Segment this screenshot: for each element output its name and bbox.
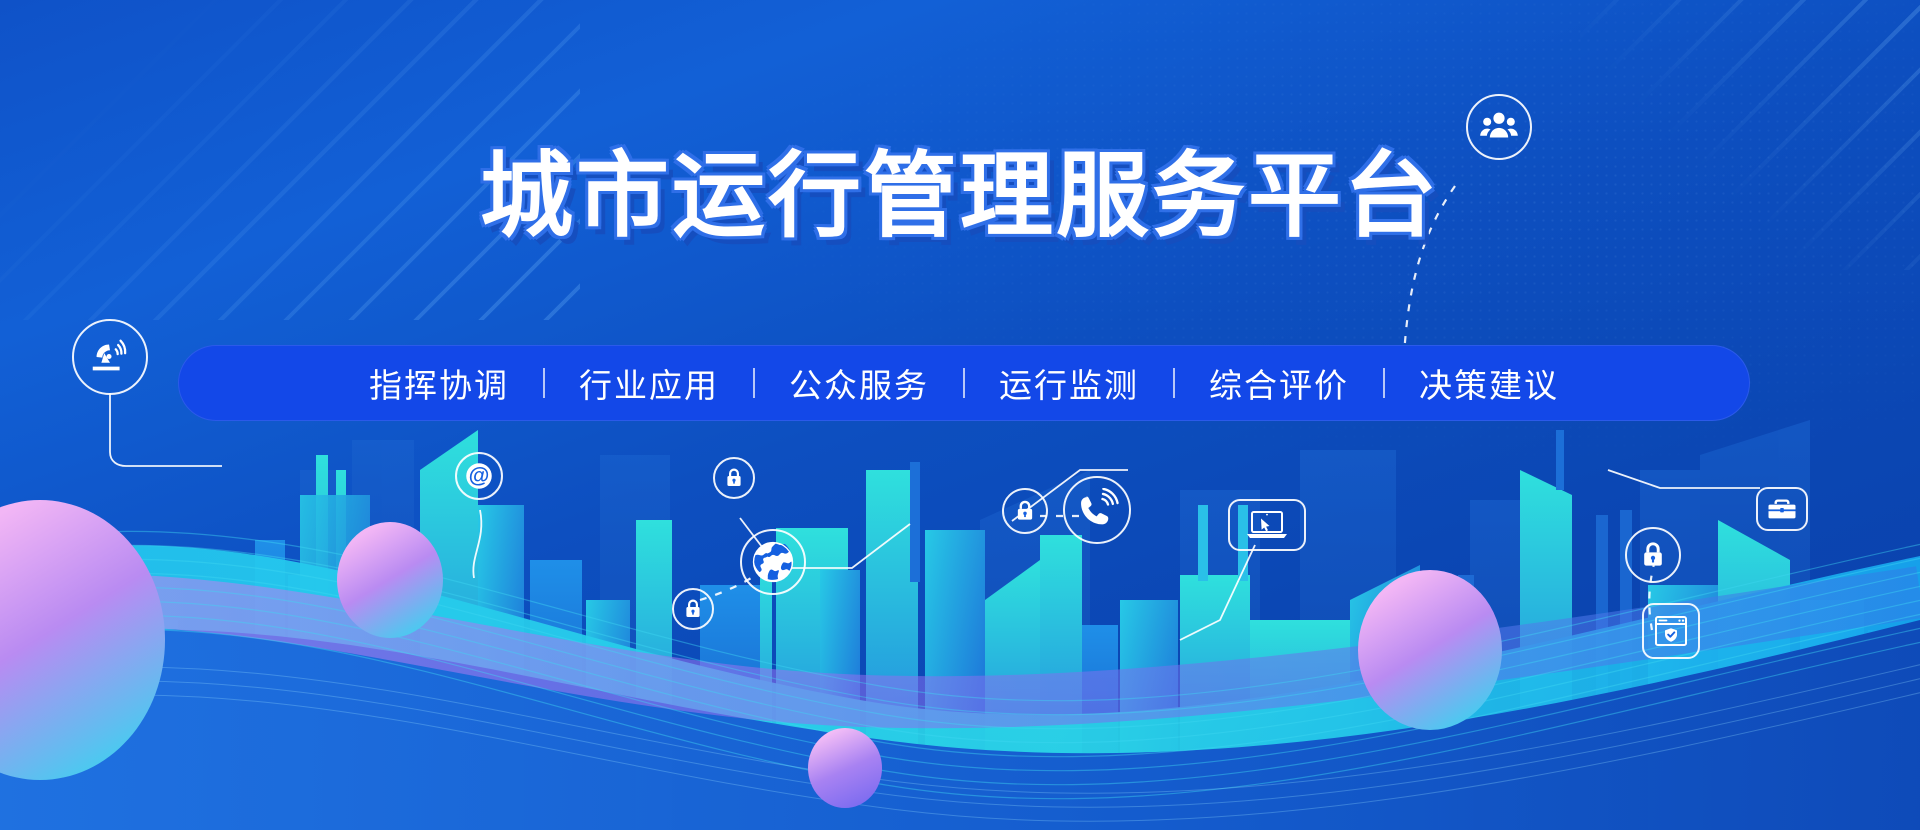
lock-icon-4[interactable] bbox=[1625, 527, 1681, 583]
at-sign-icon[interactable]: @ bbox=[455, 452, 503, 500]
lock-icon-1[interactable] bbox=[713, 457, 755, 499]
nav-item-operation-monitoring[interactable]: 运行监测 bbox=[965, 359, 1173, 407]
lock-icon-2[interactable] bbox=[672, 588, 714, 630]
browser-shield-icon[interactable] bbox=[1642, 603, 1700, 659]
nav-item-public-service[interactable]: 公众服务 bbox=[755, 359, 963, 407]
nav-item-industry-application[interactable]: 行业应用 bbox=[545, 359, 753, 407]
people-group-icon[interactable] bbox=[1466, 94, 1532, 160]
nav-item-command-coordination[interactable]: 指挥协调 bbox=[335, 359, 543, 407]
nav-item-decision-suggestion[interactable]: 决策建议 bbox=[1385, 359, 1593, 407]
globe-icon[interactable] bbox=[740, 529, 806, 595]
svg-text:@: @ bbox=[469, 464, 490, 488]
satellite-dish-icon[interactable] bbox=[72, 319, 148, 395]
main-nav-bar: 指挥协调 行业应用 公众服务 运行监测 综合评价 决策建议 bbox=[178, 345, 1750, 421]
lock-icon-3[interactable] bbox=[1002, 488, 1048, 534]
nav-item-comprehensive-evaluation[interactable]: 综合评价 bbox=[1175, 359, 1383, 407]
briefcase-icon[interactable] bbox=[1756, 487, 1808, 531]
laptop-cursor-icon[interactable] bbox=[1228, 499, 1306, 551]
banner-stage: 城市运行管理服务平台 指挥协调 行业应用 公众服务 运行监测 综合评价 决策建议 bbox=[0, 0, 1920, 830]
phone-ring-icon[interactable] bbox=[1063, 476, 1131, 544]
